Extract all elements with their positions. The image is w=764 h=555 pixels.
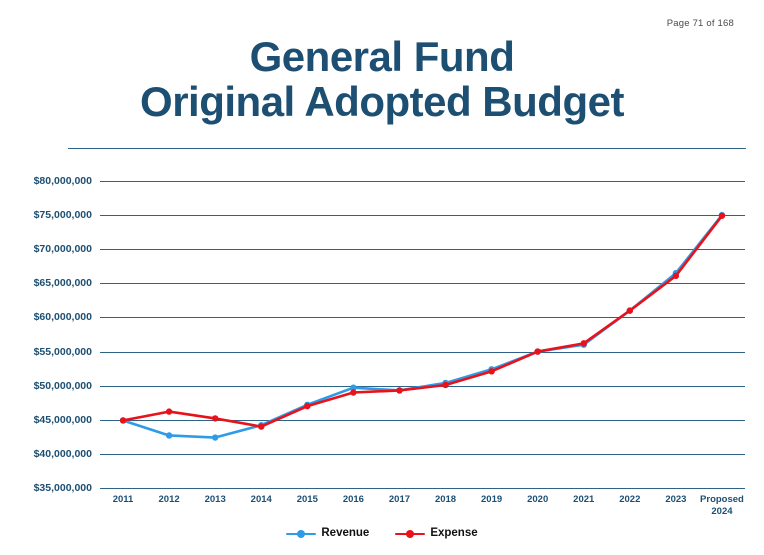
x-axis-tick-label: 2013 [205,494,226,506]
legend-label-revenue: Revenue [321,527,369,539]
gridline [100,454,745,455]
x-axis-tick-label: 2019 [481,494,502,506]
x-axis-tick-label: 2011 [113,494,134,506]
y-axis-tick-label: $80,000,000 [34,175,92,187]
gridline [100,488,745,489]
gridline [100,352,745,353]
gridline [100,420,745,421]
legend-dot [297,530,305,538]
gridline [100,386,745,387]
y-axis-tick-label: $60,000,000 [34,311,92,323]
x-axis-tick-label: 2012 [159,494,180,506]
x-axis-tick-label: 2022 [619,494,640,506]
gridline [100,181,745,182]
legend-label-expense: Expense [430,527,477,539]
y-axis-tick-label: $75,000,000 [34,209,92,221]
legend-item-revenue[interactable]: Revenue [286,527,369,539]
gridline [100,283,745,284]
line-chart: $80,000,000$75,000,000$70,000,000$65,000… [0,0,764,555]
y-axis-tick-label: $55,000,000 [34,346,92,358]
x-axis-tick-label: 2021 [573,494,594,506]
gridline [100,215,745,216]
gridline [100,317,745,318]
gridline [100,249,745,250]
y-axis-tick-label: $40,000,000 [34,448,92,460]
line-marker-icon [395,528,425,539]
x-axis-tick-label: 2017 [389,494,410,506]
x-axis-tick-label: Proposed2024 [700,494,744,518]
y-axis-tick-label: $35,000,000 [34,482,92,494]
y-axis: $80,000,000$75,000,000$70,000,000$65,000… [0,0,92,555]
y-axis-tick-label: $50,000,000 [34,380,92,392]
line-marker-icon [286,528,316,539]
x-axis-tick-label: 2020 [527,494,548,506]
legend-item-expense[interactable]: Expense [395,527,477,539]
x-axis-tick-label: 2016 [343,494,364,506]
x-axis-tick-label: 2015 [297,494,318,506]
y-axis-tick-label: $45,000,000 [34,414,92,426]
legend-dot [406,530,414,538]
y-axis-tick-label: $70,000,000 [34,243,92,255]
x-axis-tick-label: 2018 [435,494,456,506]
x-axis-tick-label: 2023 [665,494,686,506]
chart-legend: Revenue Expense [0,527,764,539]
y-axis-tick-label: $65,000,000 [34,277,92,289]
plot-area [100,181,745,488]
x-axis-tick-label: 2014 [251,494,272,506]
